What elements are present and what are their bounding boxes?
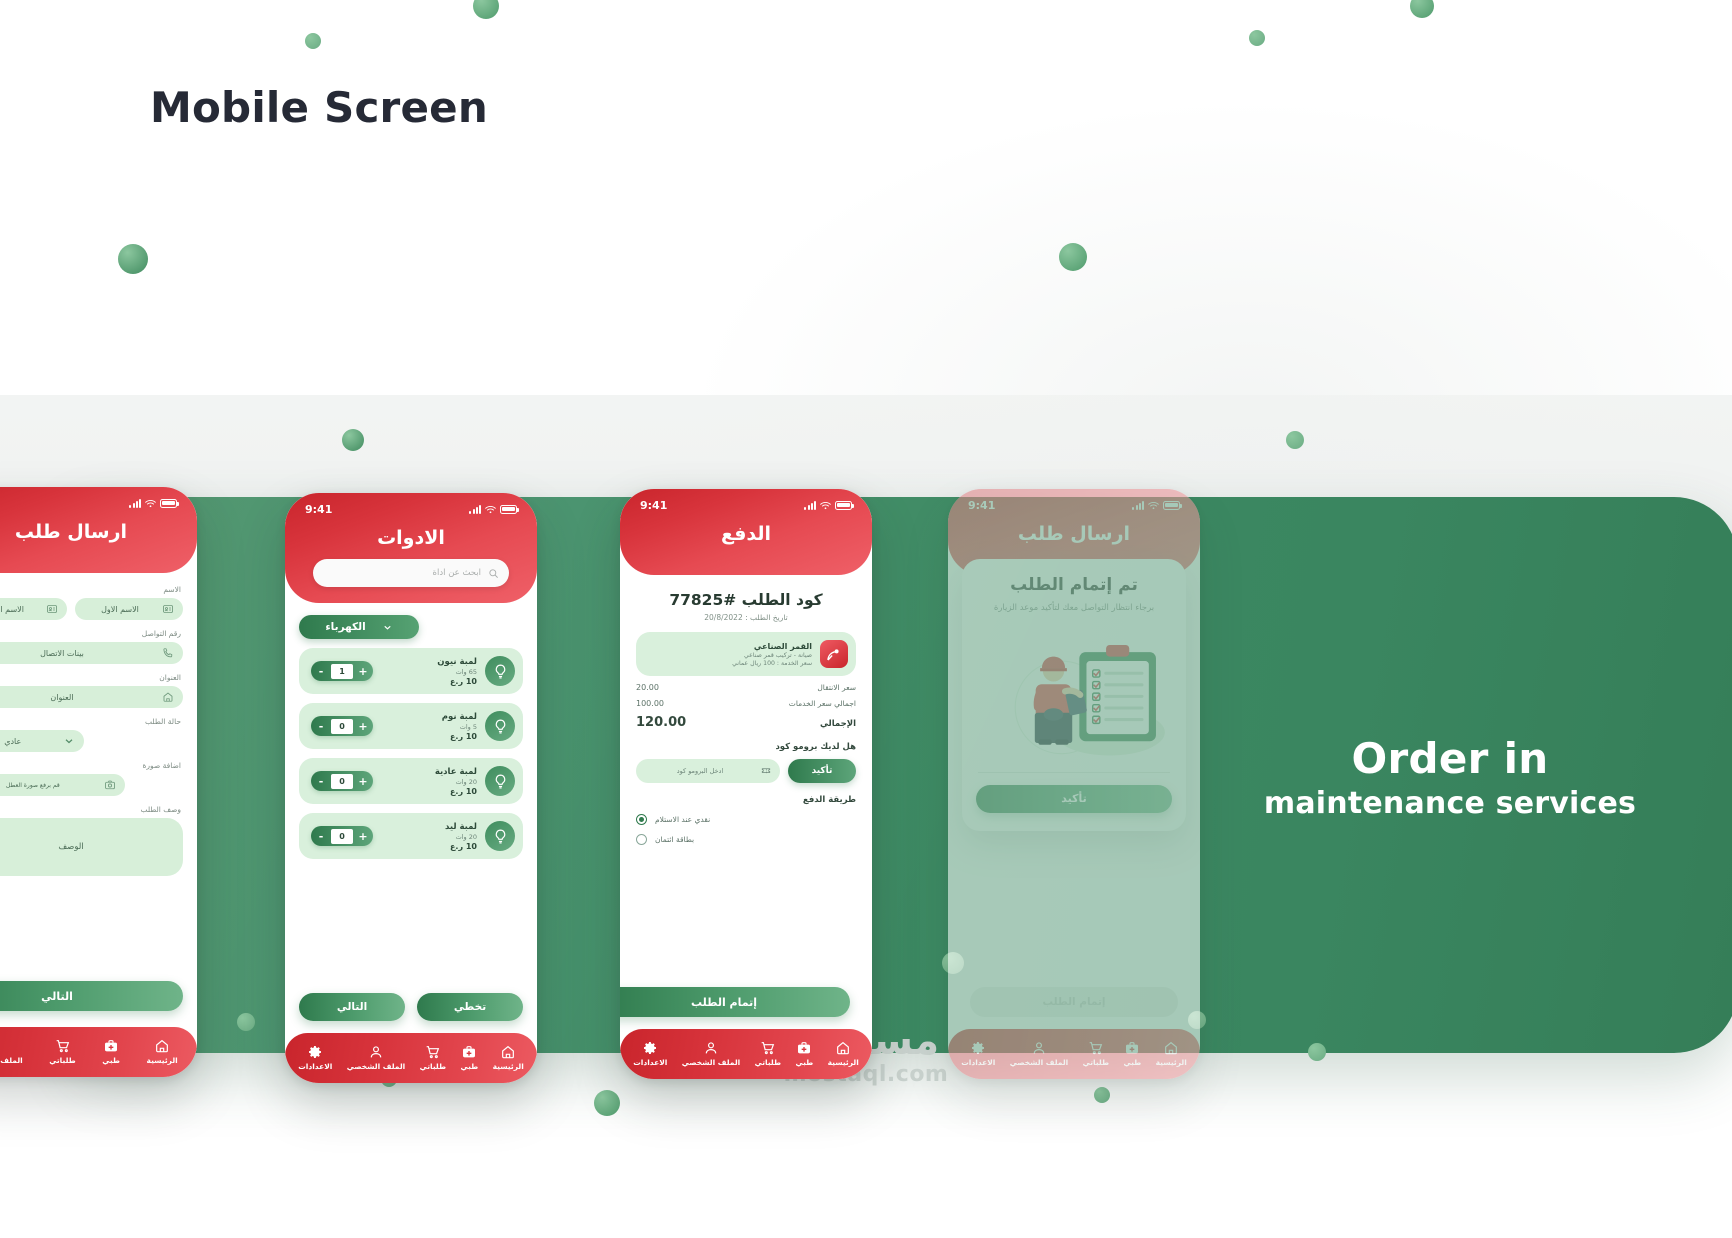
gear-icon [307,1044,323,1060]
order-description-value: الوصف [58,842,83,852]
tool-price: 10 ر.ع [397,732,477,741]
nav-label-medical: طبي [1123,1058,1141,1067]
chevron-down-icon [382,622,393,633]
home-icon [835,1040,851,1056]
screen1-next-button[interactable]: التالي [0,981,183,1011]
nav-label-settings: الاعدادات [633,1058,667,1067]
promo-placeholder: ادخل البرومو كود [645,767,755,775]
service-price-line: سعر الخدمة : 100 ريال عماني [644,660,812,667]
price-label: سعر الانتقال [817,683,856,692]
dialog-confirm-button[interactable]: تأكيد [976,785,1172,813]
nav-label-medical: طبي [795,1058,813,1067]
last-name-value: الاسم الاخير [0,605,40,614]
signal-icon [1132,501,1144,510]
upload-photo-text: قم برفع صورة العطل [0,782,98,789]
category-selector-electricity[interactable]: الكهرباء [299,615,419,639]
stepper-increase-button[interactable]: + [353,661,373,681]
nav-label-orders: طلباتي [420,1062,446,1071]
status-icons [469,505,517,514]
nav-item-orders[interactable]: طلباتي [1083,1040,1109,1067]
person-icon [0,1038,2,1054]
screen2-title: الادوات [299,527,523,549]
search-icon [488,568,499,579]
stepper-value: 1 [331,664,353,679]
status-bar: 9:41 [962,489,1186,515]
screen2-skip-button[interactable]: تخطي [417,993,523,1021]
quantity-stepper[interactable]: -0+ [311,826,373,846]
nav-item-profile[interactable]: الملف الشخصي [682,1040,740,1067]
service-desc: صيانة - تركيب قمر صناعي [644,652,812,659]
nav-item-profile[interactable]: الملف الشخصي [1010,1040,1068,1067]
payment-option[interactable]: نقدي عند الاستلام [636,814,856,825]
tool-name: لمبة نيون [397,657,477,667]
tagline: Order in maintenance services [1230,735,1670,821]
person-icon [703,1040,719,1056]
nav-item-home[interactable]: الرئيسية [493,1044,524,1071]
stepper-decrease-button[interactable]: - [311,826,331,846]
first-name-value: الاسم الاول [84,605,156,614]
medical-kit-icon [1124,1040,1140,1056]
wifi-icon [1148,501,1159,510]
screen4-bottom-nav[interactable]: الرئيسية طبي طلباتي الملف الشخصي الاعداد… [948,1029,1200,1079]
tool-price: 10 ر.ع [397,787,477,796]
wifi-icon [820,501,831,510]
payment-radio[interactable] [636,834,647,845]
service-text: القمر الصناعي صيانة - تركيب قمر صناعي سع… [644,642,812,667]
signal-icon [804,501,816,510]
nav-label-home: الرئيسية [828,1058,859,1067]
order-desc-group: وصف الطلب الوصف [0,805,183,876]
decorative-dot [305,33,321,49]
dialog-divider [978,772,1170,773]
price-row: اجمالي سعر الخدمات100.00 [636,699,856,708]
screen-tools: 9:41 الادوات ابحث عن اداة الكهرباء [285,493,537,1083]
nav-item-orders[interactable]: طلباتي [755,1040,781,1067]
status-time: 9:41 [968,499,995,512]
tools-list: لمبة نيون65 وات10 ر.ع-1+لمبة نوم5 وات10 … [299,648,523,859]
quantity-stepper[interactable]: -0+ [311,771,373,791]
wifi-icon [485,505,496,514]
tool-price: 10 ر.ع [397,677,477,686]
contact-field-group: رقم التواصل بينات الاتصال [0,629,183,664]
order-status-group: حالة الطلب عادي [0,717,183,752]
total-value: 120.00 [636,715,686,730]
tool-meta: لمبة نيون65 وات10 ر.ع [397,657,477,686]
nav-item-settings[interactable]: الاعدادات [298,1044,332,1071]
screen4-background-button: إتمام الطلب [970,987,1178,1017]
tool-name: لمبة ليد [397,822,477,832]
cart-icon [55,1038,71,1054]
status-icons [129,499,177,508]
tagline-line-1: Order in [1230,735,1670,782]
address-input[interactable]: العنوان [0,686,183,708]
home-icon [1163,1040,1179,1056]
decorative-dot [1308,1043,1326,1061]
screen2-bottom-nav[interactable]: الرئيسية طبي طلباتي الملف الشخصي الاعداد… [285,1033,537,1083]
nav-item-settings[interactable]: الاعدادات [633,1040,667,1067]
tool-name: لمبة عادية [397,767,477,777]
decorative-dot [118,244,148,274]
status-time: 9:41 [305,503,332,516]
nav-label-medical: طبي [460,1062,478,1071]
battery-icon [835,501,852,510]
phone-icon [162,647,174,659]
price-breakdown: سعر الانتقال20.00اجمالي سعر الخدمات100.0… [636,683,856,708]
cart-icon [425,1044,441,1060]
stepper-increase-button[interactable]: + [353,826,373,846]
screen2-body: الكهرباء لمبة نيون65 وات10 ر.ع-1+لمبة نو… [285,603,537,1083]
stepper-decrease-button[interactable]: - [311,771,331,791]
nav-item-home[interactable]: الرئيسية [828,1040,859,1067]
status-icons [804,501,852,510]
regular-bulb-icon [485,766,515,796]
order-status-select[interactable]: عادي [0,730,84,752]
screen-payment: 9:41 الدفع كود الطلب #77825 تاريخ الطلب … [620,489,872,1079]
payment-option[interactable]: بطاقة ائتمان [636,834,856,845]
quantity-stepper[interactable]: -0+ [311,716,373,736]
home-icon [500,1044,516,1060]
screen1-title: ارسال طلب [0,521,183,543]
order-description-textarea[interactable]: الوصف [0,818,183,876]
total-row: الإجمالي 120.00 [636,715,856,730]
screen3-bottom-nav[interactable]: الرئيسية طبي طلباتي الملف الشخصي الاعداد… [620,1029,872,1079]
payment-options: نقدي عند الاستلامبطاقة ائتمان [636,814,856,845]
order-date: تاريخ الطلب : 20/8/2022 [636,613,856,622]
tool-card[interactable]: لمبة ليد20 وات10 ر.ع-0+ [299,813,523,859]
nav-label-orders: طلباتي [1083,1058,1109,1067]
decorative-dot [594,1090,620,1116]
home-icon [154,1038,170,1054]
order-complete-illustration [976,624,1172,764]
status-bar: 9:41 [634,489,858,515]
contact-value: بينات الاتصال [0,649,156,658]
stepper-increase-button[interactable]: + [353,771,373,791]
nav-label-profile: الملف الشخصي [682,1058,740,1067]
battery-icon [500,505,517,514]
tool-watt: 65 وات [397,668,477,676]
promo-label: هل لديك برومو كود [636,742,856,752]
order-code: كود الطلب #77825 [636,591,856,609]
quantity-stepper[interactable]: -1+ [311,661,373,681]
nav-label-medical: طبي [102,1056,120,1065]
nav-label-orders: طلباتي [49,1056,75,1065]
nav-item-orders[interactable]: طلباتي [420,1044,446,1071]
order-complete-dialog: تم إتمام الطلب برجاء انتظار التواصل معك … [962,559,1186,831]
phone-mockup-send-order: 9:41 ارسال طلب الاسم الاسم الاول [0,487,197,1077]
ticket-icon [761,766,771,776]
night-bulb-icon [485,711,515,741]
nav-item-settings[interactable]: الاعدادات [961,1040,995,1067]
decorative-dot [1249,30,1265,46]
home-icon [162,691,174,703]
name-field-group: الاسم الاسم الاول الاسم الاخير [0,585,183,620]
nav-label-settings: الاعدادات [961,1058,995,1067]
decorative-dot [1059,243,1087,271]
price-value: 100.00 [636,699,664,708]
search-input[interactable]: ابحث عن اداة [313,559,509,587]
satellite-dish-icon [820,640,848,668]
screen3-body: كود الطلب #77825 تاريخ الطلب : 20/8/2022… [620,575,872,1079]
screen-order-complete: 9:41 ارسال طلب إتمام الطلب تم إتمام الطل… [948,489,1200,1079]
led-bulb-icon [485,821,515,851]
tool-watt: 20 وات [397,778,477,786]
screen1-header: 9:41 ارسال طلب [0,487,197,573]
payment-method-label: طريقة الدفع [636,795,856,805]
nav-label-home: الرئيسية [147,1056,178,1065]
nav-label-profile: الملف الشخصي [1010,1058,1068,1067]
nav-item-medical[interactable]: طبي [460,1044,478,1071]
price-label: اجمالي سعر الخدمات [789,699,856,708]
battery-icon [160,499,177,508]
service-card[interactable]: القمر الصناعي صيانة - تركيب قمر صناعي سع… [636,632,856,676]
gear-icon [970,1040,986,1056]
tool-watt: 20 وات [397,833,477,841]
screen2-header: 9:41 الادوات ابحث عن اداة [285,493,537,603]
medical-kit-icon [796,1040,812,1056]
nav-label-home: الرئيسية [493,1062,524,1071]
stepper-decrease-button[interactable]: - [311,716,331,736]
price-row: سعر الانتقال20.00 [636,683,856,692]
order-status-value: عادي [0,737,57,746]
nav-label-profile: الملف الشخصي [0,1056,23,1065]
stepper-increase-button[interactable]: + [353,716,373,736]
stepper-value: 0 [331,774,353,789]
screen2-actions: تخطي التالي [299,993,523,1021]
gear-icon [642,1040,658,1056]
page-title: Mobile Screen [150,83,488,132]
stepper-value: 0 [331,719,353,734]
cart-icon [760,1040,776,1056]
add-photo-label: اضافة صورة [0,761,181,770]
name-row: الاسم الاول الاسم الاخير [0,598,183,620]
promo-input[interactable]: ادخل البرومو كود [636,759,780,783]
wifi-icon [145,499,156,508]
neon-bulb-icon [485,656,515,686]
tool-name: لمبة نوم [397,712,477,722]
screen2-next-button[interactable]: التالي [299,993,405,1021]
nav-item-medical[interactable]: طبي [1123,1040,1141,1067]
first-name-input[interactable]: الاسم الاول [75,598,183,620]
finish-order-button[interactable]: إتمام الطلب [620,987,850,1017]
status-time: 9:41 [640,499,667,512]
phone-mockup-order-complete: 9:41 ارسال طلب إتمام الطلب تم إتمام الطل… [948,489,1200,1079]
promo-row: تأكيد ادخل البرومو كود [636,759,856,783]
nav-label-settings: الاعدادات [298,1062,332,1071]
decorative-dot [342,429,364,451]
nav-item-orders[interactable]: طلباتي [49,1038,75,1065]
dialog-subtitle: برجاء انتظار التواصل معك لتأكيد موعد الز… [976,602,1172,616]
nav-label-home: الرئيسية [1156,1058,1187,1067]
category-label: الكهرباء [325,621,365,633]
add-photo-group: اضافة صورة قم برفع صورة العطل [0,761,183,796]
tool-watt: 5 وات [397,723,477,731]
tool-meta: لمبة ليد20 وات10 ر.ع [397,822,477,851]
dialog-title: تم إتمام الطلب [976,575,1172,595]
order-status-label: حالة الطلب [0,717,181,726]
camera-upload-icon [104,779,116,791]
screen4-title: ارسال طلب [962,523,1186,545]
tool-meta: لمبة نوم5 وات10 ر.ع [397,712,477,741]
nav-item-home[interactable]: الرئيسية [147,1038,178,1065]
service-title: القمر الصناعي [644,642,812,651]
screen1-bottom-nav[interactable]: الرئيسية طبي طلباتي الملف الشخصي [0,1027,197,1077]
search-placeholder: ابحث عن اداة [323,568,481,578]
screen1-body: الاسم الاسم الاول الاسم الاخير رقم التوا… [0,573,197,1077]
nav-item-medical[interactable]: طبي [102,1038,120,1065]
nav-item-medical[interactable]: طبي [795,1040,813,1067]
nav-item-profile[interactable]: الملف الشخصي [347,1044,405,1071]
screen-send-order: 9:41 ارسال طلب الاسم الاسم الاول [0,487,197,1077]
tool-card[interactable]: لمبة عادية20 وات10 ر.ع-0+ [299,758,523,804]
signal-icon [129,499,141,508]
promo-confirm-button[interactable]: تأكيد [788,759,856,783]
tool-price: 10 ر.ع [397,842,477,851]
tool-card[interactable]: لمبة نوم5 وات10 ر.ع-0+ [299,703,523,749]
tagline-line-2: maintenance services [1230,786,1670,821]
phone-mockup-tools: 9:41 الادوات ابحث عن اداة الكهرباء [285,493,537,1083]
status-bar: 9:41 [299,493,523,519]
chevron-down-icon [63,735,75,747]
phone-mockup-payment: 9:41 الدفع كود الطلب #77825 تاريخ الطلب … [620,489,872,1079]
medical-kit-icon [461,1044,477,1060]
medical-kit-icon [103,1038,119,1054]
screen3-header: 9:41 الدفع [620,489,872,575]
contact-label: رقم التواصل [0,629,181,638]
address-value: العنوان [0,693,156,702]
payment-option-label: بطاقة ائتمان [655,835,694,844]
last-name-input[interactable]: الاسم الاخير [0,598,67,620]
payment-option-label: نقدي عند الاستلام [655,815,710,824]
status-bar: 9:41 [0,487,183,513]
id-card-icon [162,603,174,615]
stepper-value: 0 [331,829,353,844]
nav-label-orders: طلباتي [755,1058,781,1067]
address-label: العنوان [0,673,181,682]
payment-radio[interactable] [636,814,647,825]
decorative-dot [1094,1087,1110,1103]
signal-icon [469,505,481,514]
battery-icon [1163,501,1180,510]
person-icon [368,1044,384,1060]
total-label: الإجمالي [820,719,856,729]
nav-item-profile[interactable]: الملف الشخصي [0,1038,23,1065]
person-icon [1031,1040,1047,1056]
screen3-title: الدفع [634,523,858,545]
contact-input[interactable]: بينات الاتصال [0,642,183,664]
stepper-decrease-button[interactable]: - [311,661,331,681]
decorative-dot [1286,431,1304,449]
upload-photo-button[interactable]: قم برفع صورة العطل [0,774,125,796]
status-icons [1132,501,1180,510]
cart-icon [1088,1040,1104,1056]
tool-card[interactable]: لمبة نيون65 وات10 ر.ع-1+ [299,648,523,694]
name-label: الاسم [0,585,181,594]
tool-meta: لمبة عادية20 وات10 ر.ع [397,767,477,796]
nav-item-home[interactable]: الرئيسية [1156,1040,1187,1067]
nav-label-profile: الملف الشخصي [347,1062,405,1071]
decorative-dot [237,1013,255,1031]
price-value: 20.00 [636,683,659,692]
search-wrapper: ابحث عن اداة [299,549,523,587]
address-field-group: العنوان العنوان [0,673,183,708]
id-card-icon [46,603,58,615]
order-desc-label: وصف الطلب [0,805,181,814]
